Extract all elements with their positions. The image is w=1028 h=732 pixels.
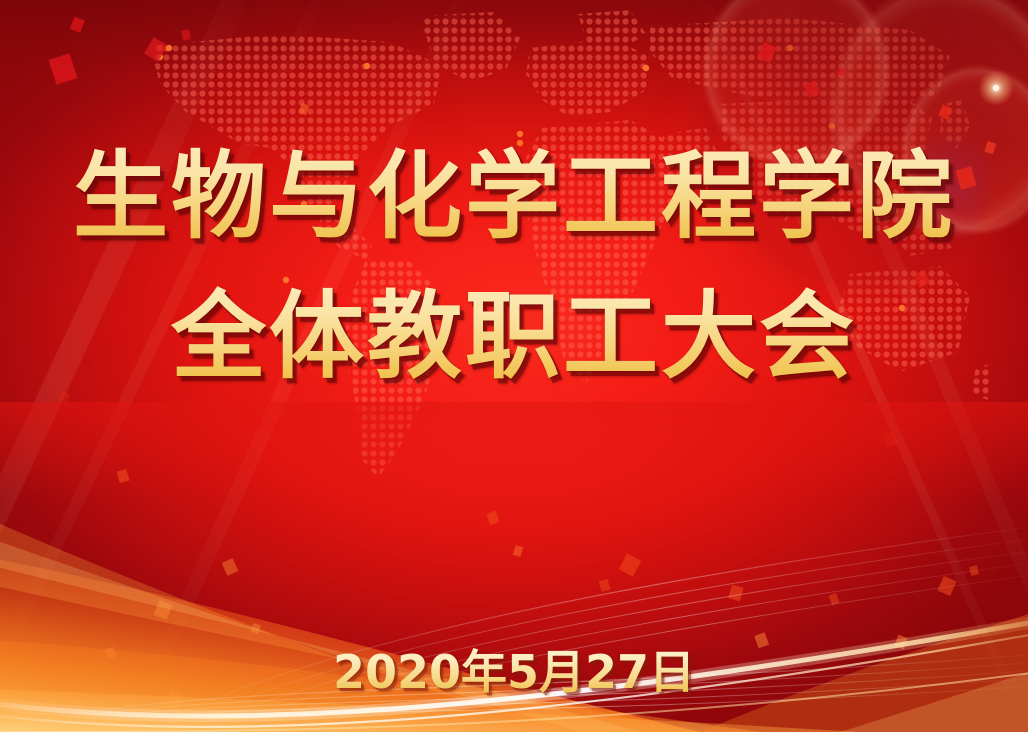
banner-title-block: 生物与化学工程学院 全体教职工大会: [0, 128, 1028, 407]
title-line-2: 全体教职工大会: [0, 268, 1028, 408]
title-line-1: 生物与化学工程学院: [0, 128, 1028, 268]
banner-canvas: 生物与化学工程学院 全体教职工大会 2020年5月27日: [0, 0, 1028, 732]
event-date: 2020年5月27日: [0, 636, 1028, 702]
